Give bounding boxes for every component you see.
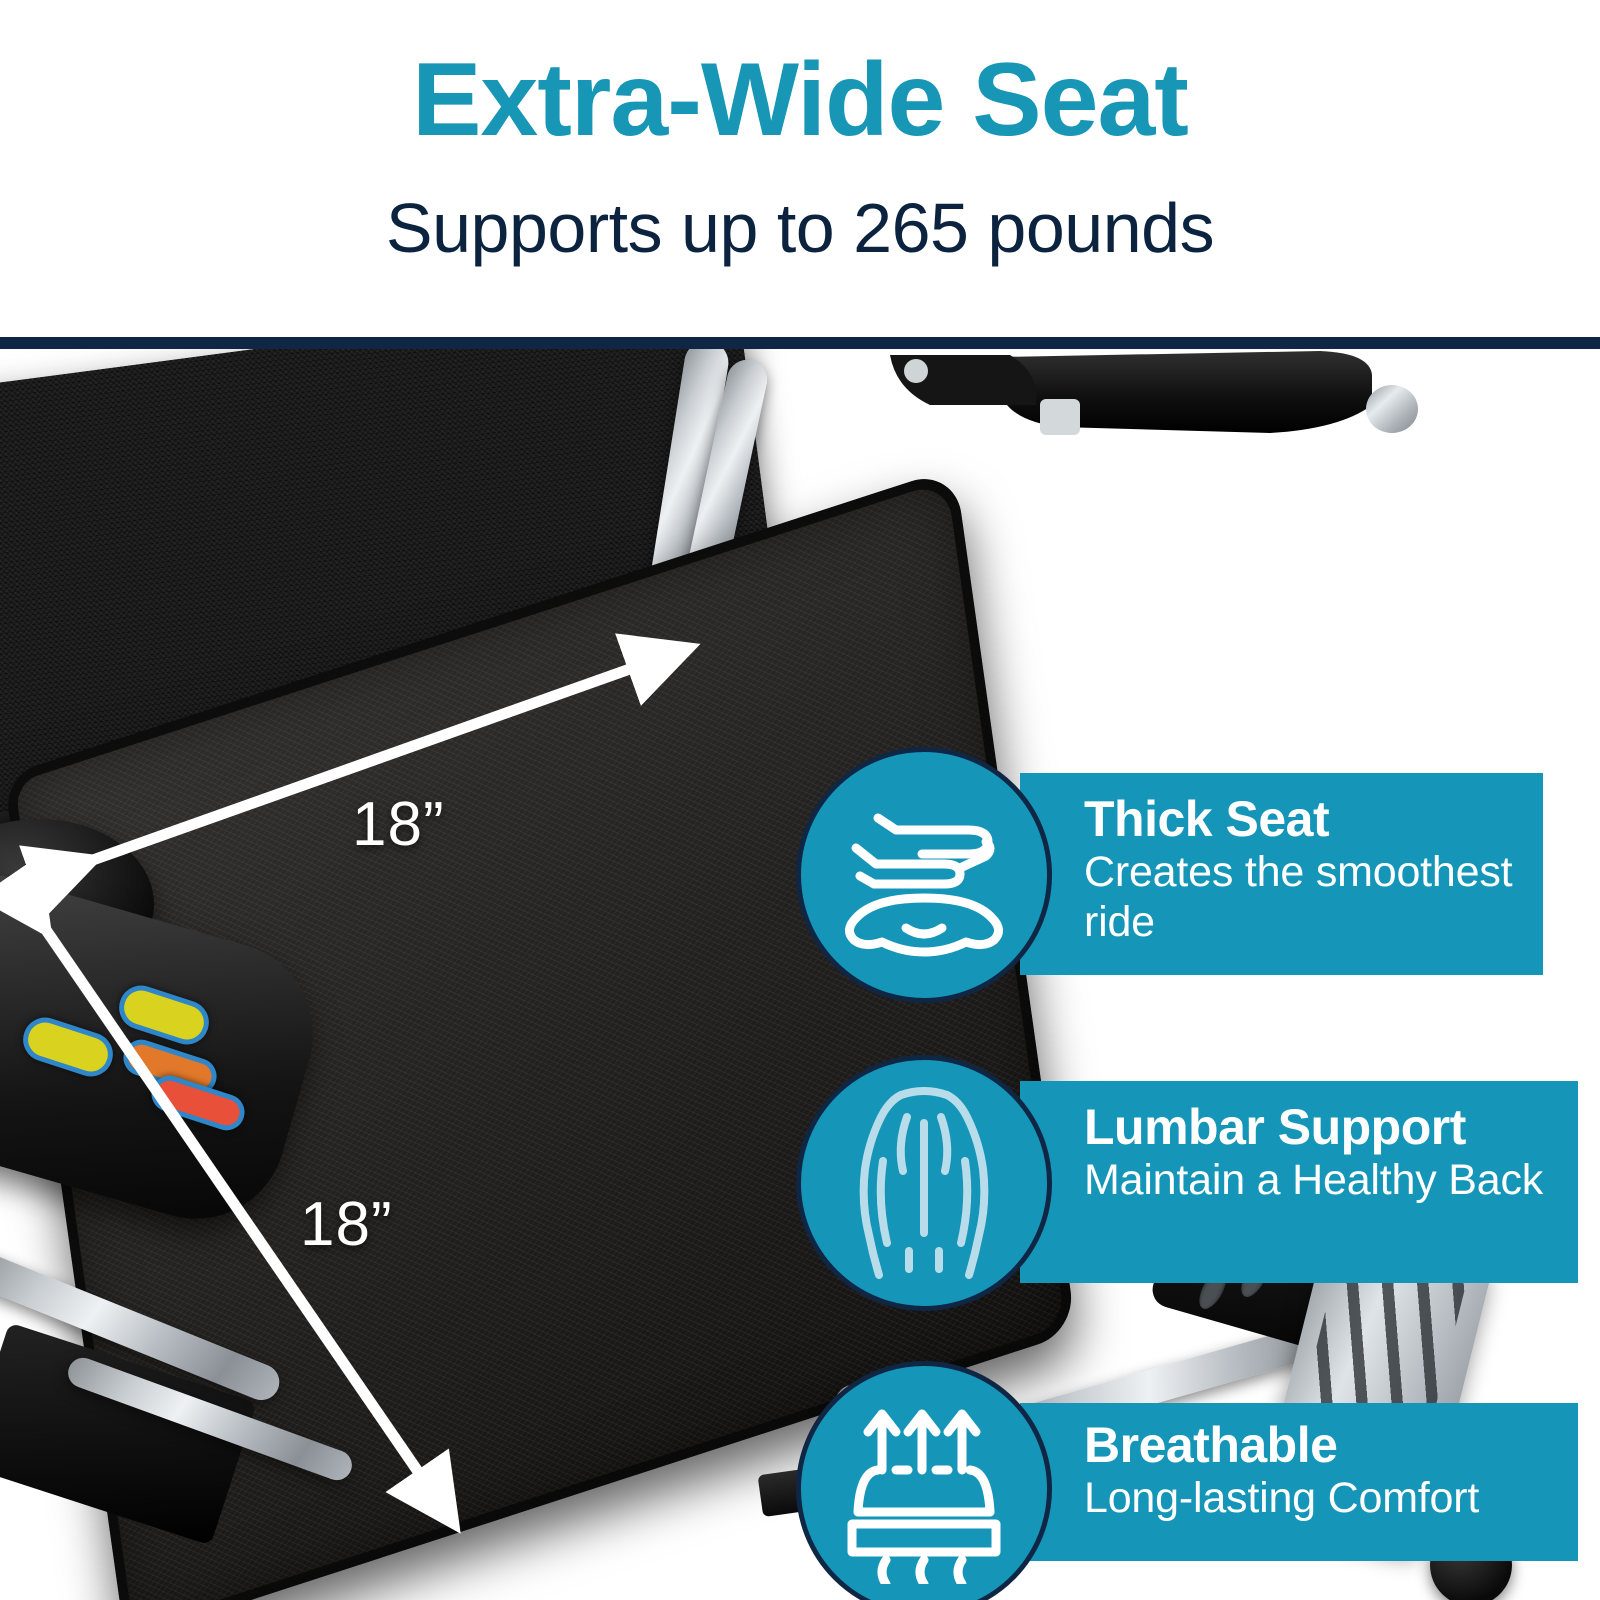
feature-title: Breathable [1084, 1417, 1584, 1473]
seat-width-label: 18” [352, 789, 445, 860]
feature-icon-circle [796, 1055, 1052, 1311]
infographic-page: Extra-Wide Seat Supports up to 265 pound… [0, 0, 1600, 1600]
feature-text-block: Thick Seat Creates the smoothest ride [1084, 791, 1554, 947]
breathable-mattress-airflow-icon [834, 1394, 1014, 1584]
feature-subtitle: Creates the smoothest ride [1084, 847, 1554, 947]
feature-title: Lumbar Support [1084, 1099, 1584, 1155]
feature-icon-circle [796, 1361, 1052, 1600]
seat-depth-label: 18” [300, 1189, 393, 1260]
feature-text-block: Breathable Long-lasting Comfort [1084, 1417, 1584, 1523]
armrest-tube-end [1366, 385, 1418, 433]
page-subtitle: Supports up to 265 pounds [0, 190, 1600, 266]
feature-subtitle: Maintain a Healthy Back [1084, 1155, 1584, 1205]
human-back-spine-icon [839, 1083, 1009, 1283]
product-photo: 18” 18” [0, 349, 1600, 1600]
feature-text-block: Lumbar Support Maintain a Healthy Back [1084, 1099, 1584, 1205]
header-divider [0, 337, 1600, 349]
armrest-bolt [904, 359, 928, 383]
feature-icon-circle [796, 747, 1052, 1003]
feature-title: Thick Seat [1084, 791, 1554, 847]
hand-over-cushion-icon [834, 790, 1014, 960]
feature-subtitle: Long-lasting Comfort [1084, 1473, 1584, 1523]
armrest-mount-plate [1040, 399, 1080, 435]
page-title: Extra-Wide Seat [0, 46, 1600, 154]
header: Extra-Wide Seat Supports up to 265 pound… [0, 0, 1600, 337]
